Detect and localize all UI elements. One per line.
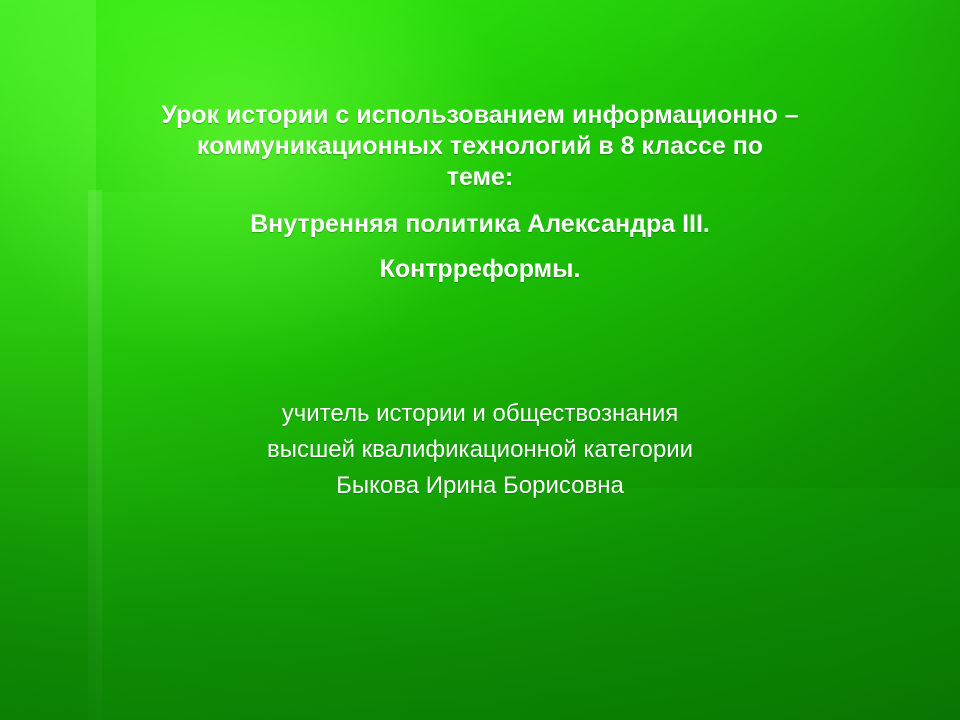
presentation-slide: Урок истории с использованием информацио… <box>0 0 960 720</box>
slide-content: Урок истории с использованием информацио… <box>0 0 960 720</box>
author-line-1: учитель истории и обществознания <box>60 396 900 432</box>
title-line-1: Урок истории с использованием информацио… <box>60 100 900 131</box>
title-line-2: коммуникационных технологий в 8 классе п… <box>60 131 900 162</box>
slide-title: Урок истории с использованием информацио… <box>60 100 900 285</box>
slide-author: учитель истории и обществознания высшей … <box>60 396 900 504</box>
title-line-3: теме: <box>60 162 900 193</box>
author-line-3: Быкова Ирина Борисовна <box>60 468 900 504</box>
title-subtitle-2: Контрреформы. <box>60 254 900 285</box>
author-line-2: высшей квалификационной категории <box>60 432 900 468</box>
title-subtitle-1: Внутренняя политика Александра III. <box>60 209 900 240</box>
